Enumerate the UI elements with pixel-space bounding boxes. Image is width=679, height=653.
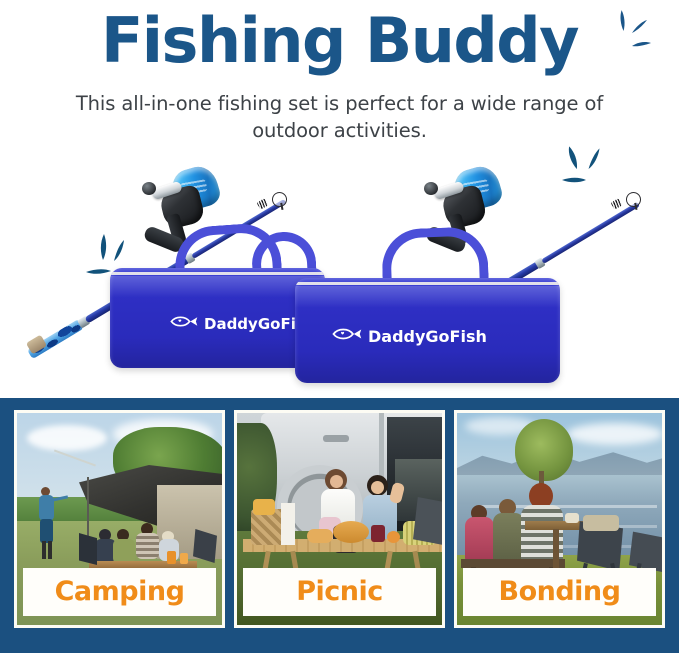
activity-card-bonding[interactable]: Bonding <box>454 410 665 628</box>
carry-bag-left: DaddyGoFish <box>110 268 325 368</box>
carry-bag-right: DaddyGoFish <box>295 278 560 383</box>
reel-handle-knob-left <box>142 182 156 195</box>
page-subtitle: This all-in-one fishing set is perfect f… <box>60 90 620 144</box>
bag-sheen-left <box>110 276 325 298</box>
activity-label-bonding-text: Bonding <box>499 577 621 607</box>
activity-label-camping: Camping <box>23 568 216 616</box>
hero-section: Fishing Buddy This all-in-one fishing se… <box>0 0 679 398</box>
activity-label-bonding: Bonding <box>463 568 656 616</box>
page-title: Fishing Buddy <box>101 6 578 76</box>
activity-label-camping-text: Camping <box>55 577 185 607</box>
brand-name-right: DaddyGoFish <box>368 327 487 346</box>
brand-logo-right: DaddyGoFish <box>332 326 487 346</box>
bag-piping-right <box>295 282 560 285</box>
title-container: Fishing Buddy <box>0 0 679 82</box>
activity-card-picnic[interactable]: Picnic <box>234 410 445 628</box>
reel-handle-knob-right <box>424 182 438 195</box>
product-photo-stage: DaddyGoFish <box>0 140 679 398</box>
fish-heart-logo-icon <box>170 314 198 333</box>
bag-sheen-right <box>295 286 560 308</box>
activity-label-picnic-text: Picnic <box>296 577 383 607</box>
activity-card-list: Camping <box>14 410 665 628</box>
brand-logo-left: DaddyGoFish <box>170 314 315 333</box>
sparkle-icon <box>607 6 673 66</box>
sparkle-icon <box>552 144 612 190</box>
activity-label-picnic: Picnic <box>243 568 436 616</box>
bag-piping-left <box>110 272 325 275</box>
fish-heart-logo-icon <box>332 326 362 346</box>
activity-card-camping[interactable]: Camping <box>14 410 225 628</box>
sparkle-icon <box>78 228 138 288</box>
activities-panel: Camping <box>0 398 679 653</box>
